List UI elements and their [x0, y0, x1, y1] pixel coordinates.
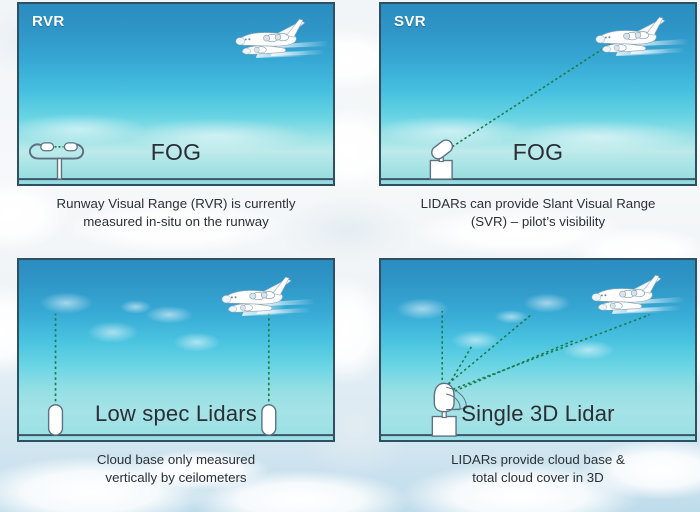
cloud-layer [396, 293, 615, 360]
ceilometer-icon-left [49, 405, 63, 435]
scan-beam-3 [446, 346, 472, 389]
lidar-head [434, 383, 454, 411]
aircraft-icon [596, 17, 689, 56]
scan-beam-4 [448, 315, 649, 391]
panel-low-spec-lidars[interactable]: Low spec Lidars [17, 258, 335, 442]
aircraft-icon [236, 19, 329, 58]
panel-corner-tag: RVR [32, 13, 65, 30]
panel-word-fog: FOG [513, 139, 563, 166]
panel-caption-rvr: Runway Visual Range (RVR) is currently m… [26, 195, 326, 232]
figure-cell-svr: SVR FOG LIDARs can provide Slant Visual … [350, 0, 700, 256]
figure-cell-rvr: RVR FOG Runway Visual Range (RVR) is cur… [0, 0, 350, 256]
aircraft-icon [222, 277, 315, 316]
aircraft-icon [592, 275, 685, 314]
panel-svr[interactable]: SVR FOG [379, 2, 697, 186]
transmissometer-icon [30, 143, 83, 179]
lidar-base-box [430, 161, 452, 180]
figure-cell-low-spec-lidars: Low spec Lidars Cloud base only measured… [0, 256, 350, 512]
scan-beam-fan [442, 311, 649, 393]
panel-corner-tag: SVR [394, 13, 426, 30]
panel-caption-svr: LIDARs can provide Slant Visual Range (S… [388, 195, 688, 232]
figure-cell-single-3d-lidar: Single 3D Lidar LIDARs provide cloud bas… [350, 256, 700, 512]
panel-grid: RVR FOG Runway Visual Range (RVR) is cur… [0, 0, 700, 512]
panel-single-3d-lidar[interactable]: Single 3D Lidar [379, 258, 697, 442]
ceilometer-icon-right [262, 405, 276, 435]
lidar-base-box [432, 417, 456, 437]
panel-word-low-spec-lidars: Low spec Lidars [95, 401, 257, 427]
panel-caption-single-3d-lidar: LIDARs provide cloud base & total cloud … [388, 451, 688, 488]
panel-word-fog: FOG [151, 139, 201, 166]
panel-word-single-3d-lidar: Single 3D Lidar [461, 401, 614, 427]
panel-rvr[interactable]: RVR FOG [17, 2, 335, 186]
panel-caption-low-spec-lidars: Cloud base only measured vertically by c… [26, 451, 326, 488]
